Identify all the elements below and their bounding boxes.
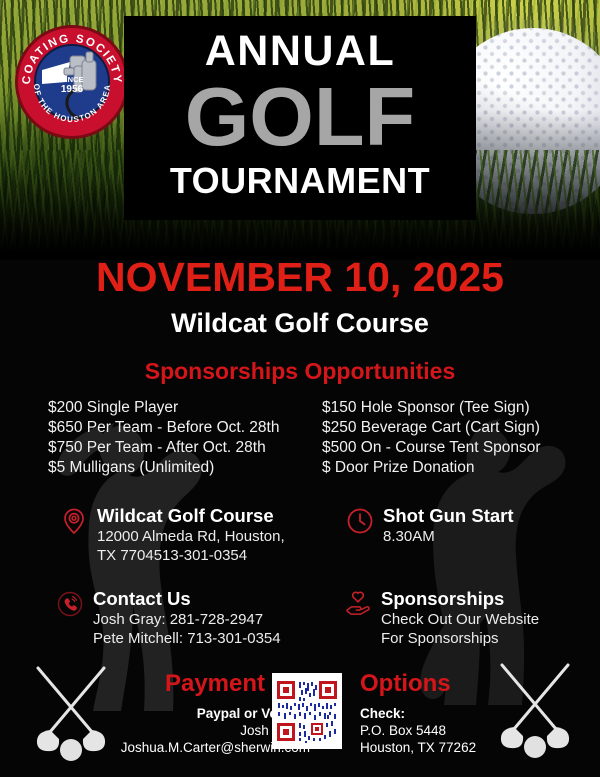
sponsorship-info-line2: For Sponsorships [381,629,539,648]
event-venue: Wildcat Golf Course [0,308,600,339]
venue-info-line2: TX 7704513-301-0354 [97,546,285,565]
clock-icon [346,507,374,535]
price-item: $150 Hole Sponsor (Tee Sign) [322,398,560,418]
coating-society-logo: SINCE 1956 COATING SOCIETY OF THE HOUSTO… [12,22,132,142]
options-line2: Houston, TX 77262 [360,739,476,756]
sponsorship-info-block: Sponsorships Check Out Our Website For S… [344,588,539,648]
price-column-right: $150 Hole Sponsor (Tee Sign) $250 Bevera… [280,398,560,478]
sponsorships-heading: Sponsorships Opportunities [0,358,600,385]
price-item: $ Door Prize Donation [322,458,560,478]
contact-info-line1: Josh Gray: 281-728-2947 [93,610,281,629]
title-annual: ANNUAL [124,30,476,73]
price-item: $750 Per Team - After Oct. 28th [48,438,280,458]
qr-code-icon[interactable] [272,673,342,749]
title-golf: GOLF [124,77,476,157]
contact-info-title: Contact Us [93,588,281,610]
price-item: $500 On - Course Tent Sponsor [322,438,560,458]
crossed-golf-clubs-right [480,655,590,765]
price-item: $200 Single Player [48,398,280,418]
price-item: $250 Beverage Cart (Cart Sign) [322,418,560,438]
time-info-line1: 8.30AM [383,527,514,546]
golf-tournament-flyer: SINCE 1956 COATING SOCIETY OF THE HOUSTO… [0,0,600,777]
heart-hand-icon [344,590,372,618]
sponsorship-info-title: Sponsorships [381,588,539,610]
venue-info-title: Wildcat Golf Course [97,505,285,527]
title-tournament: TOURNAMENT [124,163,476,199]
price-column-left: $200 Single Player $650 Per Team - Befor… [0,398,280,478]
contact-info-block: Contact Us Josh Gray: 281-728-2947 Pete … [56,588,281,648]
options-method-label: Check: [360,705,476,722]
venue-info-block: Wildcat Golf Course 12000 Almeda Rd, Hou… [60,505,285,565]
sponsorship-info-line1: Check Out Our Website [381,610,539,629]
logo-since-label: SINCE [61,75,84,84]
options-heading: Options [360,670,451,698]
map-pin-icon [60,507,88,535]
time-info-title: Shot Gun Start [383,505,514,527]
title-card: ANNUAL GOLF TOURNAMENT [124,16,476,220]
options-line1: P.O. Box 5448 [360,722,476,739]
event-date: NOVEMBER 10, 2025 [0,254,600,301]
logo-since-year: 1956 [61,84,84,95]
venue-info-line1: 12000 Almeda Rd, Houston, [97,527,285,546]
price-item: $650 Per Team - Before Oct. 28th [48,418,280,438]
phone-icon [56,590,84,618]
price-item: $5 Mulligans (Unlimited) [48,458,280,478]
options-details: Check: P.O. Box 5448 Houston, TX 77262 [360,705,476,756]
time-info-block: Shot Gun Start 8.30AM [346,505,514,546]
sponsorship-price-lists: $200 Single Player $650 Per Team - Befor… [0,398,600,478]
contact-info-line2: Pete Mitchell: 713-301-0354 [93,629,281,648]
